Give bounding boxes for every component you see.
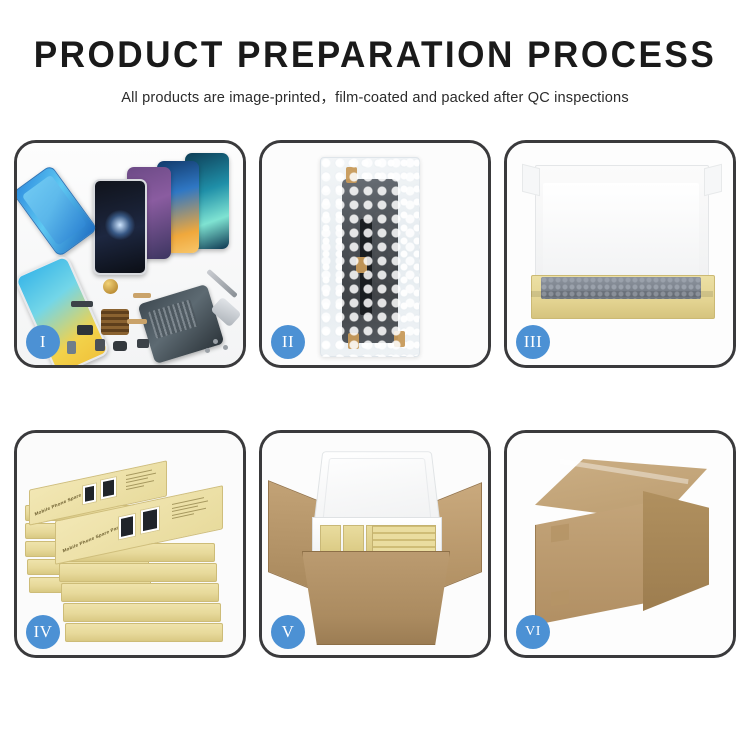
carton-body bbox=[302, 551, 450, 645]
screw-part bbox=[223, 345, 228, 350]
carton-tape-patch bbox=[551, 524, 569, 543]
spare-part bbox=[71, 301, 93, 307]
step-panel-1: I bbox=[14, 140, 246, 368]
step-badge-6: VI bbox=[516, 615, 550, 649]
screw-part bbox=[213, 339, 218, 344]
logic-board-part bbox=[101, 309, 129, 335]
spare-part bbox=[133, 293, 151, 298]
carton-tape-patch bbox=[551, 590, 569, 607]
spare-part bbox=[127, 319, 147, 324]
yellow-box bbox=[65, 623, 223, 642]
box-artwork-swatch bbox=[140, 506, 160, 535]
box-artwork-swatch bbox=[82, 482, 97, 505]
vibration-motor-part bbox=[103, 279, 118, 294]
tray-shadow bbox=[531, 291, 713, 297]
page-subtitle: All products are image-printed，film-coat… bbox=[0, 86, 750, 107]
tape-tab bbox=[356, 257, 367, 273]
bubble-wrap-bag-group bbox=[320, 157, 420, 357]
step-badge-1: I bbox=[26, 325, 60, 359]
step-panel-3: III bbox=[504, 140, 736, 368]
step-badge-4: IV bbox=[26, 615, 60, 649]
process-step-grid: I II bbox=[14, 140, 736, 658]
carton-front-face bbox=[535, 503, 646, 625]
page-title: PRODUCT PREPARATION PROCESS bbox=[19, 36, 732, 75]
tape-tab bbox=[346, 167, 357, 183]
step-badge-2: II bbox=[271, 325, 305, 359]
box-spec-lines bbox=[126, 468, 158, 493]
infographic-page: PRODUCT PREPARATION PROCESS All products… bbox=[0, 0, 750, 750]
carton-side-face bbox=[643, 491, 709, 611]
spare-part bbox=[95, 339, 105, 351]
yellow-box bbox=[63, 603, 221, 622]
box-artwork-swatch bbox=[100, 476, 117, 501]
spare-part bbox=[77, 325, 93, 335]
step-panel-5: V bbox=[259, 430, 491, 658]
step-badge-5: V bbox=[271, 615, 305, 649]
tape-tab bbox=[348, 333, 359, 349]
yellow-box bbox=[59, 563, 217, 582]
screwdriver-icon bbox=[206, 269, 238, 298]
spare-part bbox=[67, 341, 76, 354]
yellow-box bbox=[61, 583, 219, 602]
spare-part bbox=[137, 339, 149, 348]
step-panel-6: VI bbox=[504, 430, 736, 658]
phone-adhesive-film bbox=[17, 165, 98, 258]
step-panel-2: II bbox=[259, 140, 491, 368]
phone-glass-screen bbox=[93, 179, 147, 275]
box-spec-lines bbox=[172, 495, 212, 521]
step-badge-3: III bbox=[516, 325, 550, 359]
spare-part bbox=[113, 341, 127, 351]
box-artwork-swatch bbox=[118, 513, 136, 541]
header: PRODUCT PREPARATION PROCESS All products… bbox=[0, 0, 750, 107]
box-label-text: Mobile Phone Spare Parts bbox=[62, 523, 123, 553]
tape-tab bbox=[394, 331, 405, 347]
foam-sheet bbox=[543, 183, 699, 277]
box-stack: Mobile Phone Spare Parts bbox=[25, 451, 241, 643]
screw-part bbox=[205, 348, 210, 353]
step-panel-4: Mobile Phone Spare Parts bbox=[14, 430, 246, 658]
